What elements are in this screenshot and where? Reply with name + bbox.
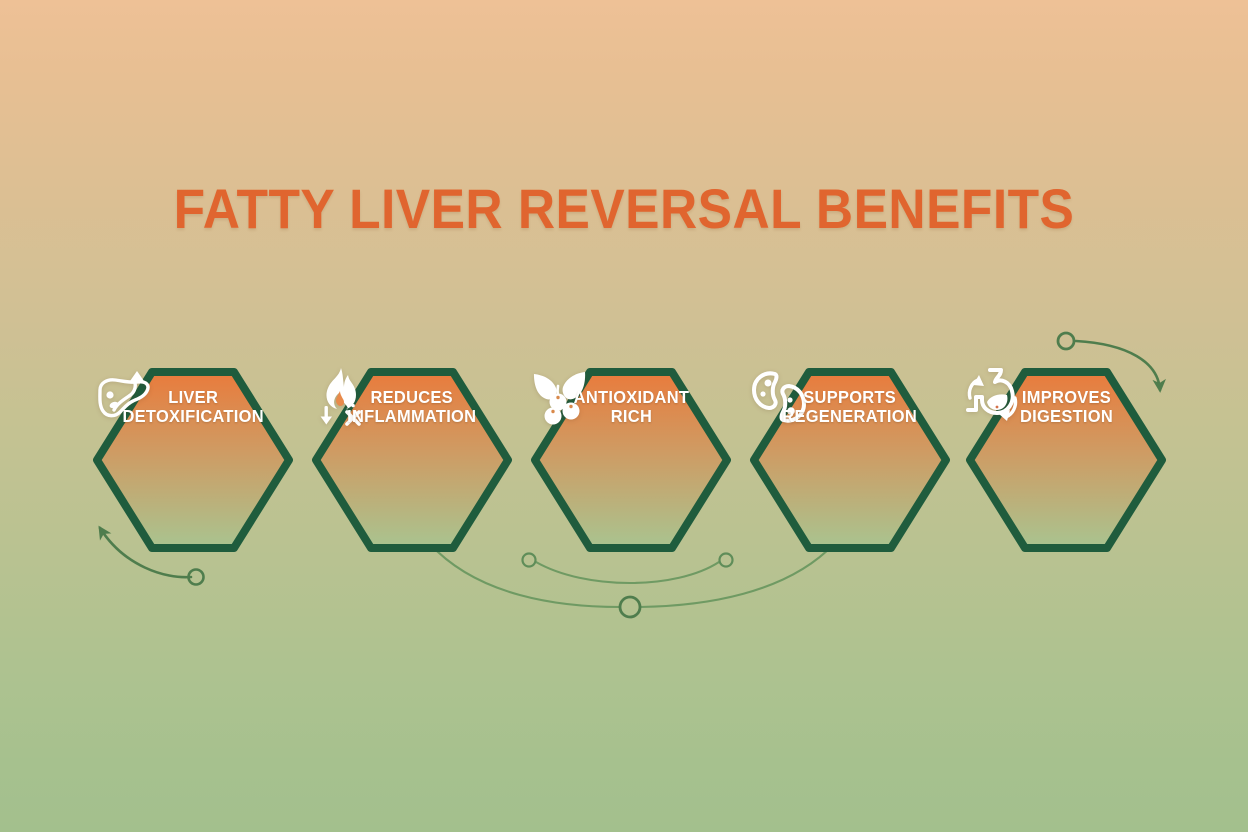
benefit-card-antioxidant-rich[interactable]: ANTIOXIDANT RICH	[528, 366, 734, 554]
benefit-label: LIVER DETOXIFICATION	[122, 388, 263, 426]
benefit-card-supports-regeneration[interactable]: SUPPORTS REGENERATION	[747, 366, 953, 554]
decoration-dot	[1058, 333, 1074, 349]
benefit-label: ANTIOXIDANT RICH	[573, 388, 689, 426]
decoration-arc-inner-middle	[523, 554, 733, 584]
benefit-label: IMPROVES DIGESTION	[1019, 388, 1112, 426]
page-title: FATTY LIVER REVERSAL BENEFITS	[50, 176, 1198, 241]
benefit-label: SUPPORTS REGENERATION	[783, 388, 918, 426]
benefits-row: LIVER DETOXIFICATION	[0, 366, 1248, 556]
benefit-card-improves-digestion[interactable]: IMPROVES DIGESTION	[963, 366, 1169, 554]
decoration-ring	[620, 597, 640, 617]
decoration-dot	[189, 570, 204, 585]
benefit-card-liver-detoxification[interactable]: LIVER DETOXIFICATION	[90, 366, 296, 554]
benefit-label: REDUCES INFLAMMATION	[347, 388, 476, 426]
stomach-arrows-icon	[963, 366, 1027, 428]
infographic-canvas: FATTY LIVER REVERSAL BENEFITS	[0, 0, 1248, 832]
benefit-card-reduces-inflammation[interactable]: REDUCES INFLAMMATION	[309, 366, 515, 554]
